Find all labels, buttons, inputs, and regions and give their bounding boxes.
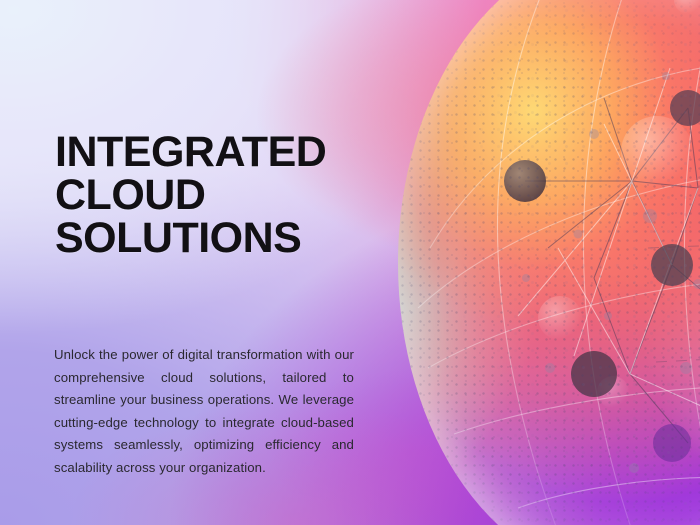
- text-content-block: Integrated Cloud Solutions Unlock the po…: [55, 0, 355, 525]
- page-title: Integrated Cloud Solutions: [55, 131, 395, 260]
- slide-canvas: Integrated Cloud Solutions Unlock the po…: [0, 0, 700, 525]
- body-paragraph: Unlock the power of digital transformati…: [54, 344, 354, 480]
